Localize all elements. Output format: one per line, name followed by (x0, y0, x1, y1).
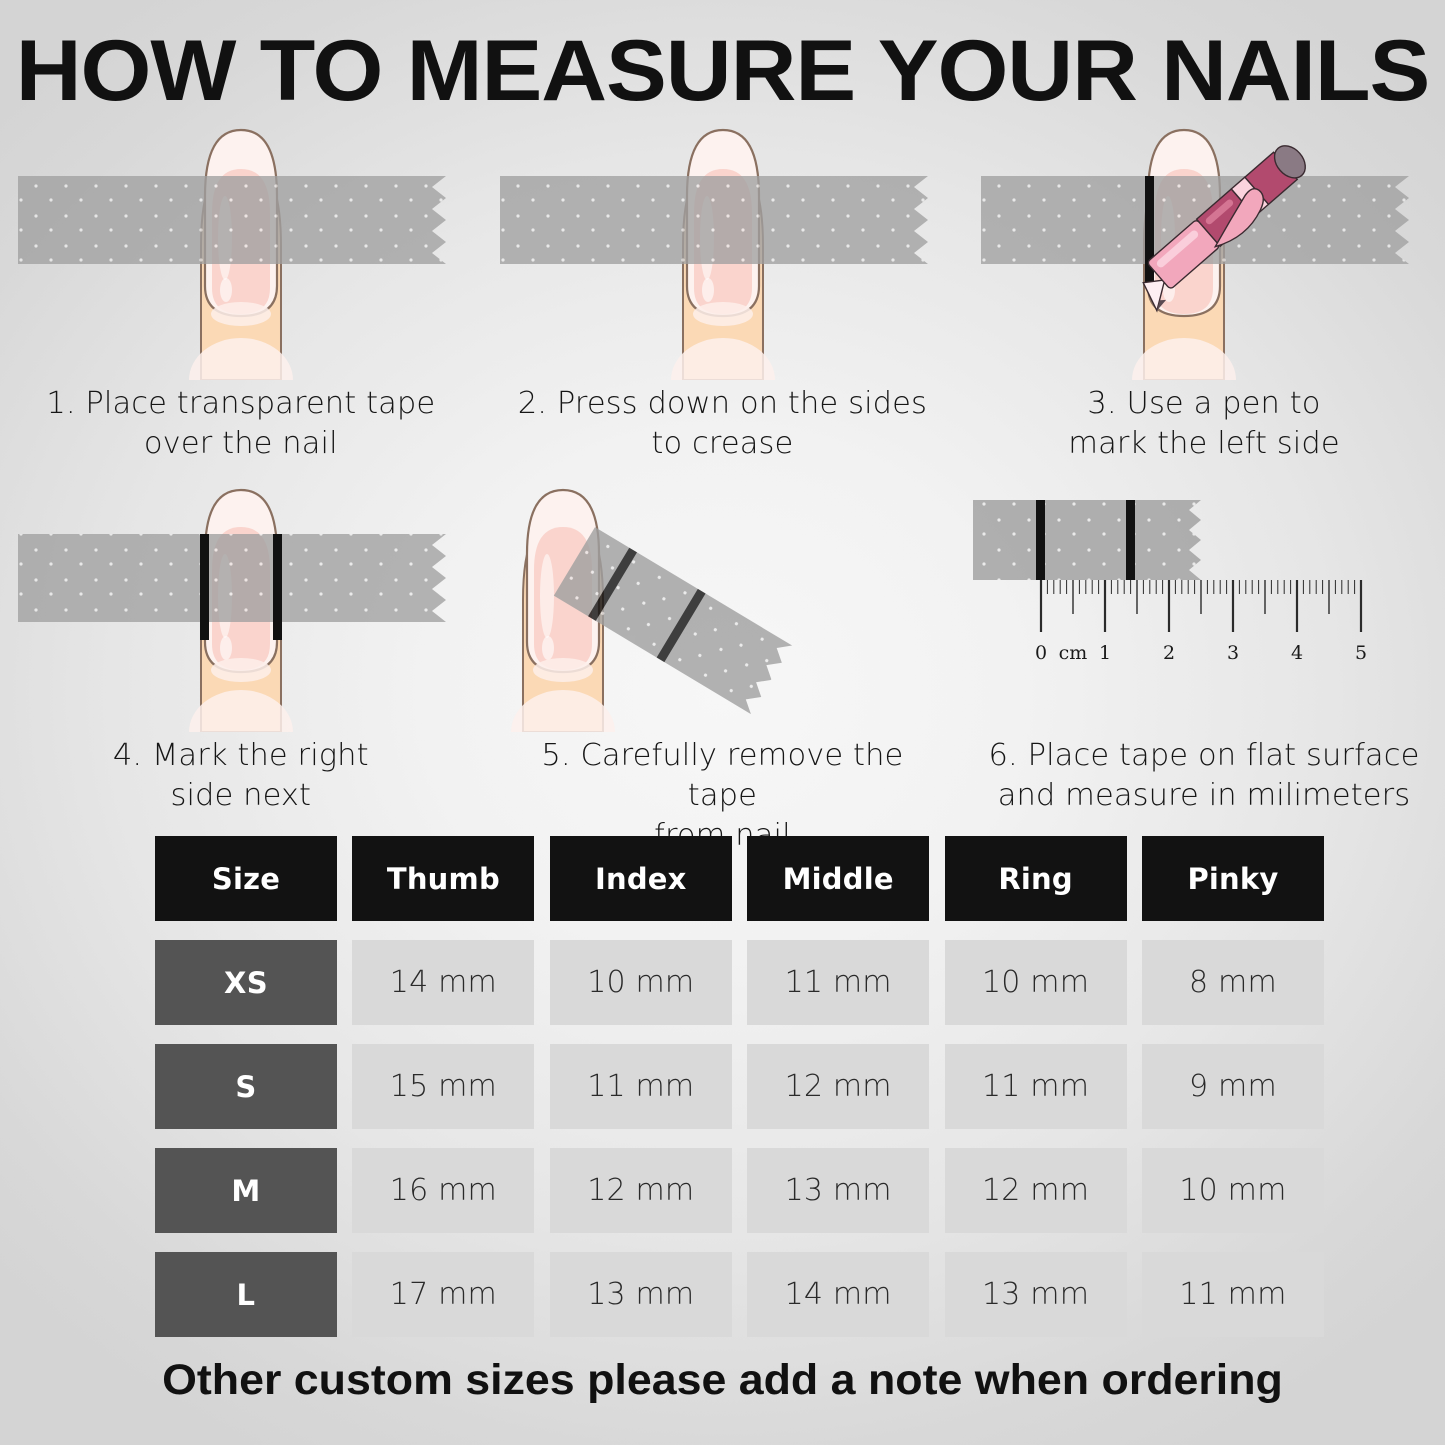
table-header-thumb: Thumb (352, 836, 534, 921)
table-cell-m-thumb: 16 mm (352, 1148, 534, 1233)
step-6: 0 cm 1 2 3 4 5 6. Place tape on flat sur… (963, 482, 1445, 856)
step-6-illustration: 0 cm 1 2 3 4 5 (963, 482, 1445, 732)
transparent-tape (18, 534, 446, 622)
table-cell-s-middle: 12 mm (747, 1044, 929, 1129)
table-cell-l-ring: 13 mm (945, 1252, 1127, 1337)
step-4-illustration (0, 482, 482, 732)
step-5-illustration (482, 482, 964, 732)
table-cell-s-thumb: 15 mm (352, 1044, 534, 1129)
table-row: L 17 mm 13 mm 14 mm 13 mm 11 mm (155, 1252, 1324, 1337)
step-2-illustration (482, 118, 964, 380)
table-row: S 15 mm 11 mm 12 mm 11 mm 9 mm (155, 1044, 1324, 1129)
table-cell-s-ring: 11 mm (945, 1044, 1127, 1129)
table-cell-l-index: 13 mm (550, 1252, 732, 1337)
ruler-tick-1: 1 (1099, 642, 1111, 664)
table-size-l: L (155, 1252, 337, 1337)
table-cell-xs-thumb: 14 mm (352, 940, 534, 1025)
table-size-m: M (155, 1148, 337, 1233)
pen-mark-left (1036, 500, 1045, 580)
table-size-s: S (155, 1044, 337, 1129)
ruler-tick-3: 3 (1227, 642, 1239, 664)
step-2-caption: 2. Press down on the sides to crease (507, 384, 937, 464)
step-1: 1. Place transparent tape over the nail (0, 118, 482, 464)
table-cell-l-pinky: 11 mm (1142, 1252, 1324, 1337)
table-cell-l-middle: 14 mm (747, 1252, 929, 1337)
measured-tape (973, 500, 1201, 580)
table-cell-m-pinky: 10 mm (1142, 1148, 1324, 1233)
table-cell-xs-middle: 11 mm (747, 940, 929, 1025)
table-cell-xs-ring: 10 mm (945, 940, 1127, 1025)
ruler (1041, 580, 1361, 632)
pen-mark-right (273, 534, 282, 640)
ruler-labels: 0 cm 1 2 3 4 5 (1035, 642, 1367, 664)
ruler-tick-4: 4 (1291, 642, 1303, 664)
table-cell-s-index: 11 mm (550, 1044, 732, 1129)
transparent-tape (500, 176, 928, 264)
transparent-tape (18, 176, 446, 264)
step-4: 4. Mark the right side next (0, 482, 482, 856)
table-header-pinky: Pinky (1142, 836, 1324, 921)
step-1-caption: 1. Place transparent tape over the nail (26, 384, 456, 464)
table-cell-s-pinky: 9 mm (1142, 1044, 1324, 1129)
step-2: 2. Press down on the sides to crease (482, 118, 964, 464)
step-1-illustration (0, 118, 482, 380)
table-row: XS 14 mm 10 mm 11 mm 10 mm 8 mm (155, 940, 1324, 1025)
ruler-unit: cm (1059, 642, 1088, 664)
steps-grid: 1. Place transparent tape over the nail (0, 118, 1445, 856)
steps-row-2: 4. Mark the right side next (0, 482, 1445, 856)
step-6-caption: 6. Place tape on flat surface and measur… (974, 736, 1434, 816)
table-header-ring: Ring (945, 836, 1127, 921)
table-cell-xs-pinky: 8 mm (1142, 940, 1324, 1025)
table-header-index: Index (550, 836, 732, 921)
ruler-tick-2: 2 (1163, 642, 1175, 664)
size-table: Size Thumb Index Middle Ring Pinky XS 14… (155, 836, 1324, 1356)
pen-mark-right (1126, 500, 1135, 580)
step-3-illustration (963, 118, 1445, 380)
ruler-tick-5: 5 (1355, 642, 1367, 664)
table-size-xs: XS (155, 940, 337, 1025)
footer-note: Other custom sizes please add a note whe… (0, 1356, 1445, 1405)
step-4-caption: 4. Mark the right side next (26, 736, 456, 816)
steps-row-1: 1. Place transparent tape over the nail (0, 118, 1445, 464)
table-header-size: Size (155, 836, 337, 921)
table-cell-m-middle: 13 mm (747, 1148, 929, 1233)
page-title: HOW TO MEASURE YOUR NAILS (0, 22, 1445, 121)
table-header-row: Size Thumb Index Middle Ring Pinky (155, 836, 1324, 921)
ruler-tick-0: 0 (1035, 642, 1047, 664)
step-3-caption: 3. Use a pen to mark the left side (989, 384, 1419, 464)
step-3: 3. Use a pen to mark the left side (963, 118, 1445, 464)
pen-mark-left (200, 534, 209, 640)
table-cell-m-index: 12 mm (550, 1148, 732, 1233)
table-row: M 16 mm 12 mm 13 mm 12 mm 10 mm (155, 1148, 1324, 1233)
table-header-middle: Middle (747, 836, 929, 921)
table-cell-m-ring: 12 mm (945, 1148, 1127, 1233)
table-cell-xs-index: 10 mm (550, 940, 732, 1025)
step-5: 5. Carefully remove the tape from nail (482, 482, 964, 856)
table-cell-l-thumb: 17 mm (352, 1252, 534, 1337)
